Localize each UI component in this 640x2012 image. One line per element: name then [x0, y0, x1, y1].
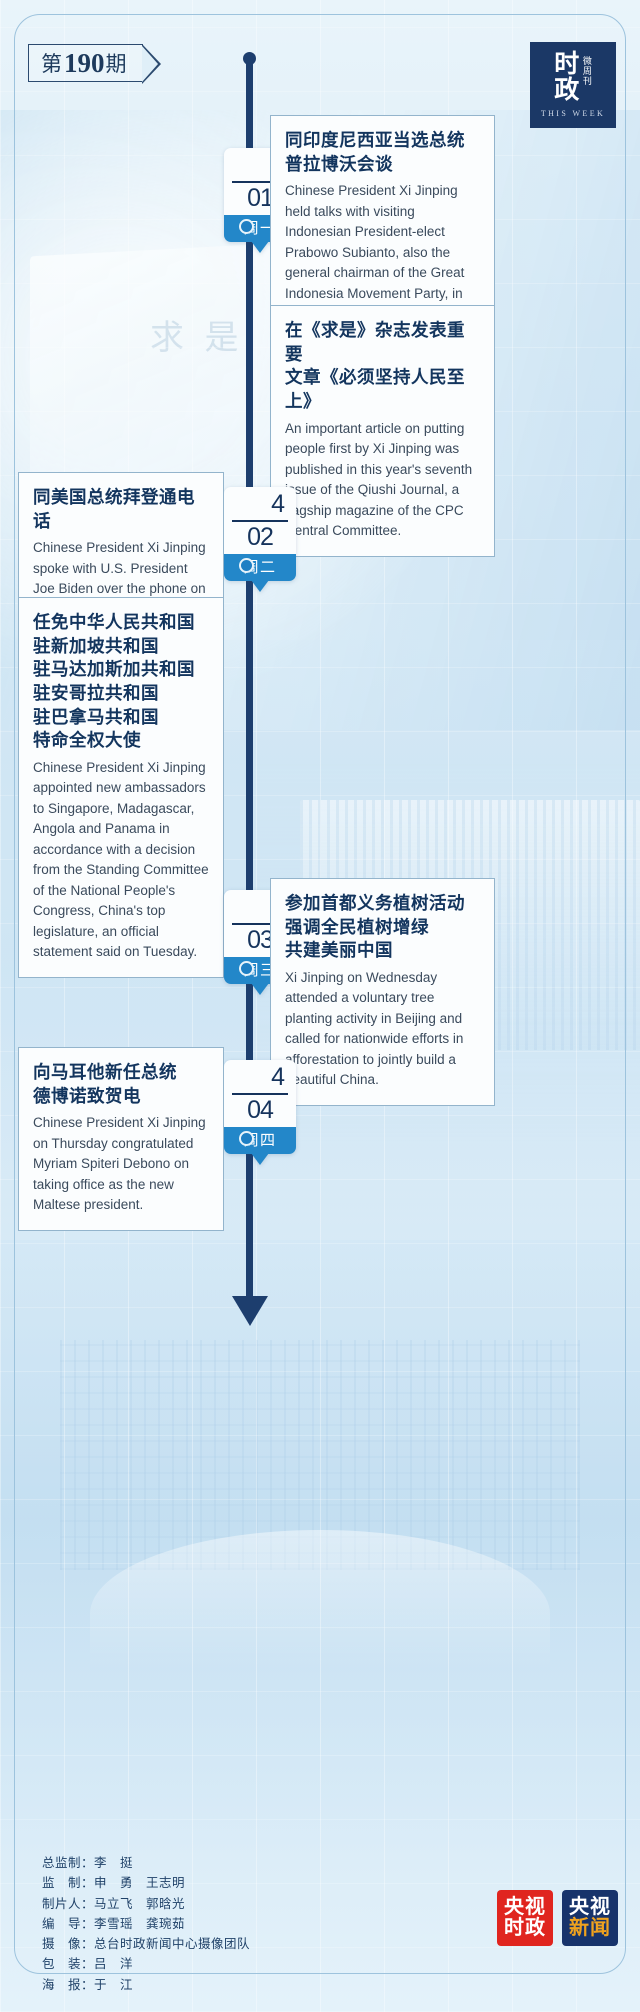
news-card-title: 在《求是》杂志发表重要 文章《必须坚持人民至上》 [285, 319, 480, 414]
news-card-body: Xi Jinping on Wednesday attended a volun… [285, 968, 480, 1091]
credit-line: 海 报：于 江 [42, 1975, 250, 1995]
credit-line: 摄 像：总台时政新闻中心摄像团队 [42, 1934, 250, 1954]
date-month: 4 [232, 1065, 288, 1090]
date-weekday: 周二 [224, 554, 296, 581]
issue-prefix: 第 [41, 48, 63, 78]
logo-english-label: THIS WEEK [541, 109, 605, 118]
news-card-title: 任免中华人民共和国 驻新加坡共和国 驻马达加斯加共和国 驻安哥拉共和国 驻巴拿马… [33, 611, 209, 753]
cctv-shizheng-logo: 央视 时政 [497, 1890, 553, 1946]
news-card-body: Chinese President Xi Jinping on Thursday… [33, 1113, 209, 1216]
credits-block: 总监制：李 挺 监 制：申 勇 王志明 制片人：马立飞 郭晗光 编 导：李雪瑶 … [42, 1853, 250, 1995]
date-day: 02 [232, 524, 288, 550]
news-card[interactable]: 任免中华人民共和国 驻新加坡共和国 驻马达加斯加共和国 驻安哥拉共和国 驻巴拿马… [18, 597, 224, 978]
issue-suffix: 期 [106, 48, 128, 78]
news-card-title: 向马耳他新任总统 德博诺致贺电 [33, 1061, 209, 1108]
logo-char-zheng: 政 [554, 78, 579, 104]
news-card-title: 同美国总统拜登通电话 [33, 486, 209, 533]
news-card-body: Chinese President Xi Jinping held talks … [285, 181, 480, 325]
timeline-node-0402 [239, 558, 254, 573]
news-card[interactable]: 在《求是》杂志发表重要 文章《必须坚持人民至上》 An important ar… [270, 305, 495, 557]
timeline-node-0403 [239, 961, 254, 976]
timeline-node-0404 [239, 1131, 254, 1146]
date-badge-0404: 4 04 周四 [224, 1060, 296, 1154]
logo-subtitle-weekly: 微周刊 [581, 56, 592, 86]
date-rule [232, 520, 288, 522]
cctv-shizheng-line2: 时政 [504, 1918, 546, 1939]
credit-line: 包 装：吕 洋 [42, 1954, 250, 1974]
timeline-node-0401 [239, 219, 254, 234]
footer-logos: 央视 时政 央视 新闻 [497, 1890, 618, 1946]
cctv-news-logo: 央视 新闻 [562, 1890, 618, 1946]
credit-line: 编 导：李雪瑶 龚琬茹 [42, 1914, 250, 1934]
this-week-logo: 时 政 微周刊 THIS WEEK [530, 42, 616, 128]
date-badge-0402: 4 02 周二 [224, 487, 296, 581]
news-card[interactable]: 向马耳他新任总统 德博诺致贺电 Chinese President Xi Jin… [18, 1047, 224, 1231]
poster-canvas: 第 190 期 时 政 微周刊 THIS WEEK 4 01 周一 同印度尼西亚… [0, 0, 640, 2012]
cctv-shizheng-line1: 央视 [504, 1897, 546, 1918]
date-month: 4 [232, 492, 288, 517]
news-card-body: Chinese President Xi Jinping appointed n… [33, 758, 209, 963]
date-rule [232, 1093, 288, 1095]
cctv-news-line1: 央视 [569, 1897, 611, 1918]
credit-line: 监 制：申 勇 王志明 [42, 1873, 250, 1893]
news-card[interactable]: 参加首都义务植树活动 强调全民植树增绿 共建美丽中国 Xi Jinping on… [270, 878, 495, 1106]
date-day: 04 [232, 1097, 288, 1123]
news-card-title: 同印度尼西亚当选总统 普拉博沃会谈 [285, 129, 480, 176]
cctv-news-line2: 新闻 [569, 1918, 611, 1939]
issue-number: 190 [64, 48, 105, 79]
background-photo-architecture [0, 1240, 640, 1860]
logo-char-shi: 时 [554, 52, 579, 78]
credit-line: 制片人：马立飞 郭晗光 [42, 1894, 250, 1914]
timeline-arrow-head [232, 1296, 268, 1326]
date-weekday: 周四 [224, 1127, 296, 1154]
credit-line: 总监制：李 挺 [42, 1853, 250, 1873]
issue-badge: 第 190 期 [28, 44, 143, 82]
news-card-body: An important article on putting people f… [285, 419, 480, 542]
news-card-title: 参加首都义务植树活动 强调全民植树增绿 共建美丽中国 [285, 892, 480, 963]
